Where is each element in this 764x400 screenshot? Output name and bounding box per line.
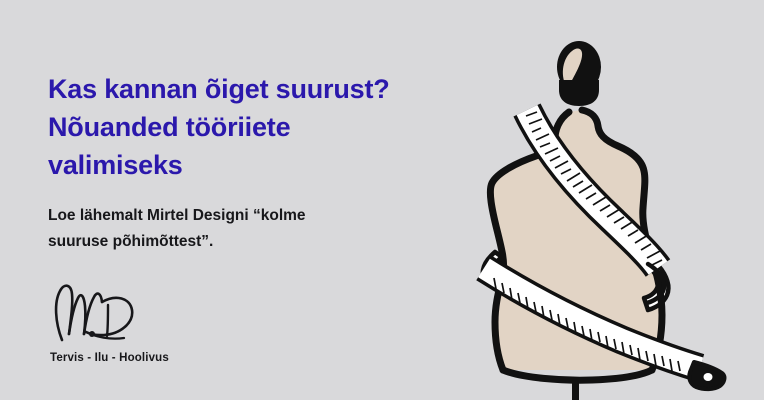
- measuring-tape-end-tip: [689, 362, 724, 389]
- page-title: Kas kannan õiget suurust? Nõuanded tööri…: [48, 70, 448, 184]
- mannequin-top-knob: [557, 41, 601, 106]
- brand-tagline: Tervis - Ilu - Hoolivus: [48, 346, 228, 364]
- brand-logo: Tervis - Ilu - Hoolivus: [48, 278, 228, 364]
- mannequin-illustration: [462, 40, 762, 400]
- banner: Kas kannan õiget suurust? Nõuanded tööri…: [0, 0, 764, 400]
- text-column: Kas kannan õiget suurust? Nõuanded tööri…: [48, 70, 448, 255]
- md-monogram-signature-icon: [48, 278, 158, 346]
- dress-form-mannequin-icon: [462, 40, 762, 400]
- mannequin-stand-post: [572, 378, 579, 400]
- subtitle-text: Loe lähemalt Mirtel Designi “kolme suuru…: [48, 184, 448, 255]
